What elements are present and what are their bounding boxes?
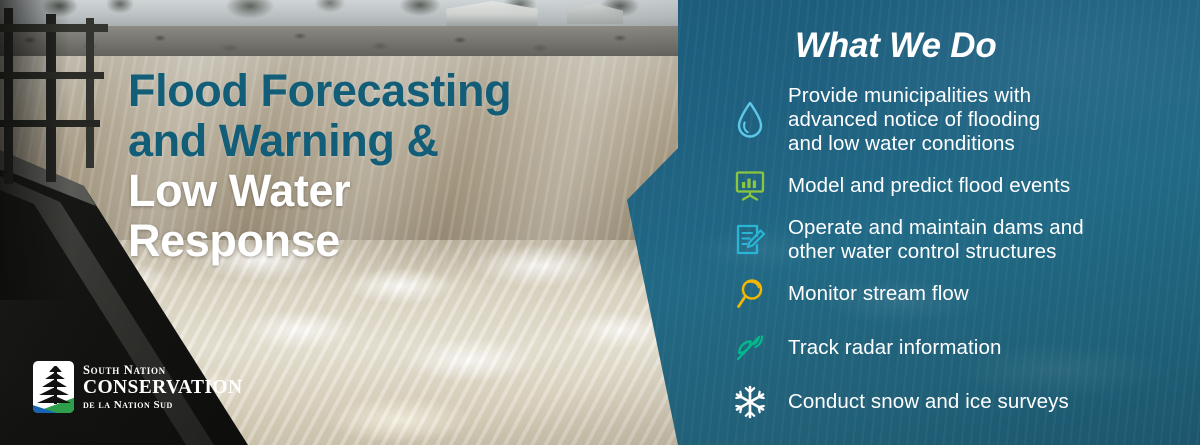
logo-line-3: de la Nation Sud [83, 400, 242, 411]
title-line-4: Response [128, 216, 648, 266]
logo-wordmark: South Nation CONSERVATION de la Nation S… [83, 364, 242, 411]
list-item: Monitor stream flow [728, 270, 1198, 318]
list-item-text: Operate and maintain dams and other wate… [788, 216, 1084, 264]
list-item: Provide municipalities with advanced not… [728, 84, 1198, 156]
list-item-text: Monitor stream flow [788, 282, 969, 306]
list-item: Operate and maintain dams and other wate… [728, 216, 1198, 264]
organization-logo[interactable]: South Nation CONSERVATION de la Nation S… [33, 361, 242, 413]
what-we-do-heading: What We Do [795, 26, 997, 66]
list-item-line: and low water conditions [788, 132, 1040, 156]
list-item-line: other water control structures [788, 240, 1084, 264]
list-item-text: Conduct snow and ice surveys [788, 390, 1069, 414]
list-item-text: Track radar information [788, 336, 1001, 360]
water-drop-icon [728, 96, 772, 144]
conifer-tree-logo-icon [33, 361, 74, 413]
list-item-line: advanced notice of flooding [788, 108, 1040, 132]
snowflake-icon [728, 378, 772, 426]
list-item-text: Model and predict flood events [788, 174, 1070, 198]
presentation-chart-icon [728, 162, 772, 210]
magnifying-glass-icon [728, 270, 772, 318]
list-item-line: Track radar information [788, 336, 1001, 360]
logo-tree-trunk [54, 367, 57, 404]
banner-stage: Flood Forecasting and Warning & Low Wate… [0, 0, 1200, 445]
logo-line-1: South Nation [83, 364, 242, 377]
list-item-text: Provide municipalities with advanced not… [788, 84, 1040, 156]
title-line-2: and Warning & [128, 116, 648, 166]
list-item-line: Provide municipalities with [788, 84, 1040, 108]
list-item-line: Conduct snow and ice surveys [788, 390, 1069, 414]
page-title: Flood Forecasting and Warning & Low Wate… [128, 66, 648, 266]
list-item: Conduct snow and ice surveys [728, 378, 1198, 426]
services-list: Provide municipalities with advanced not… [728, 84, 1198, 430]
list-item-line: Model and predict flood events [788, 174, 1070, 198]
list-item-line: Operate and maintain dams and [788, 216, 1084, 240]
title-line-1: Flood Forecasting [128, 66, 648, 116]
logo-line-2: CONSERVATION [83, 378, 242, 398]
list-item: Model and predict flood events [728, 162, 1198, 210]
title-line-3: Low Water [128, 166, 648, 216]
list-item: Track radar information [728, 324, 1198, 372]
radar-dish-icon [728, 324, 772, 372]
clipboard-pencil-icon [728, 216, 772, 264]
list-item-line: Monitor stream flow [788, 282, 969, 306]
